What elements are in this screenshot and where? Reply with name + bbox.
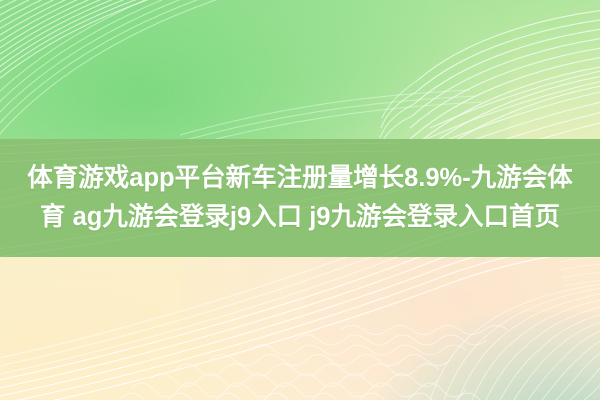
banner-image: 体育游戏app平台新车注册量增长8.9%-九游会体 育 ag九游会登录j9入口 … [0, 0, 600, 400]
page-title-line-1: 体育游戏app平台新车注册量增长8.9%-九游会体 [27, 159, 572, 198]
title-band: 体育游戏app平台新车注册量增长8.9%-九游会体 育 ag九游会登录j9入口 … [0, 139, 600, 257]
page-title: 体育游戏app平台新车注册量增长8.9%-九游会体 育 ag九游会登录j9入口 … [0, 139, 600, 257]
background-teal-wash [378, 312, 600, 400]
page-title-line-2: 育 ag九游会登录j9入口 j9九游会登录入口首页 [40, 198, 560, 237]
